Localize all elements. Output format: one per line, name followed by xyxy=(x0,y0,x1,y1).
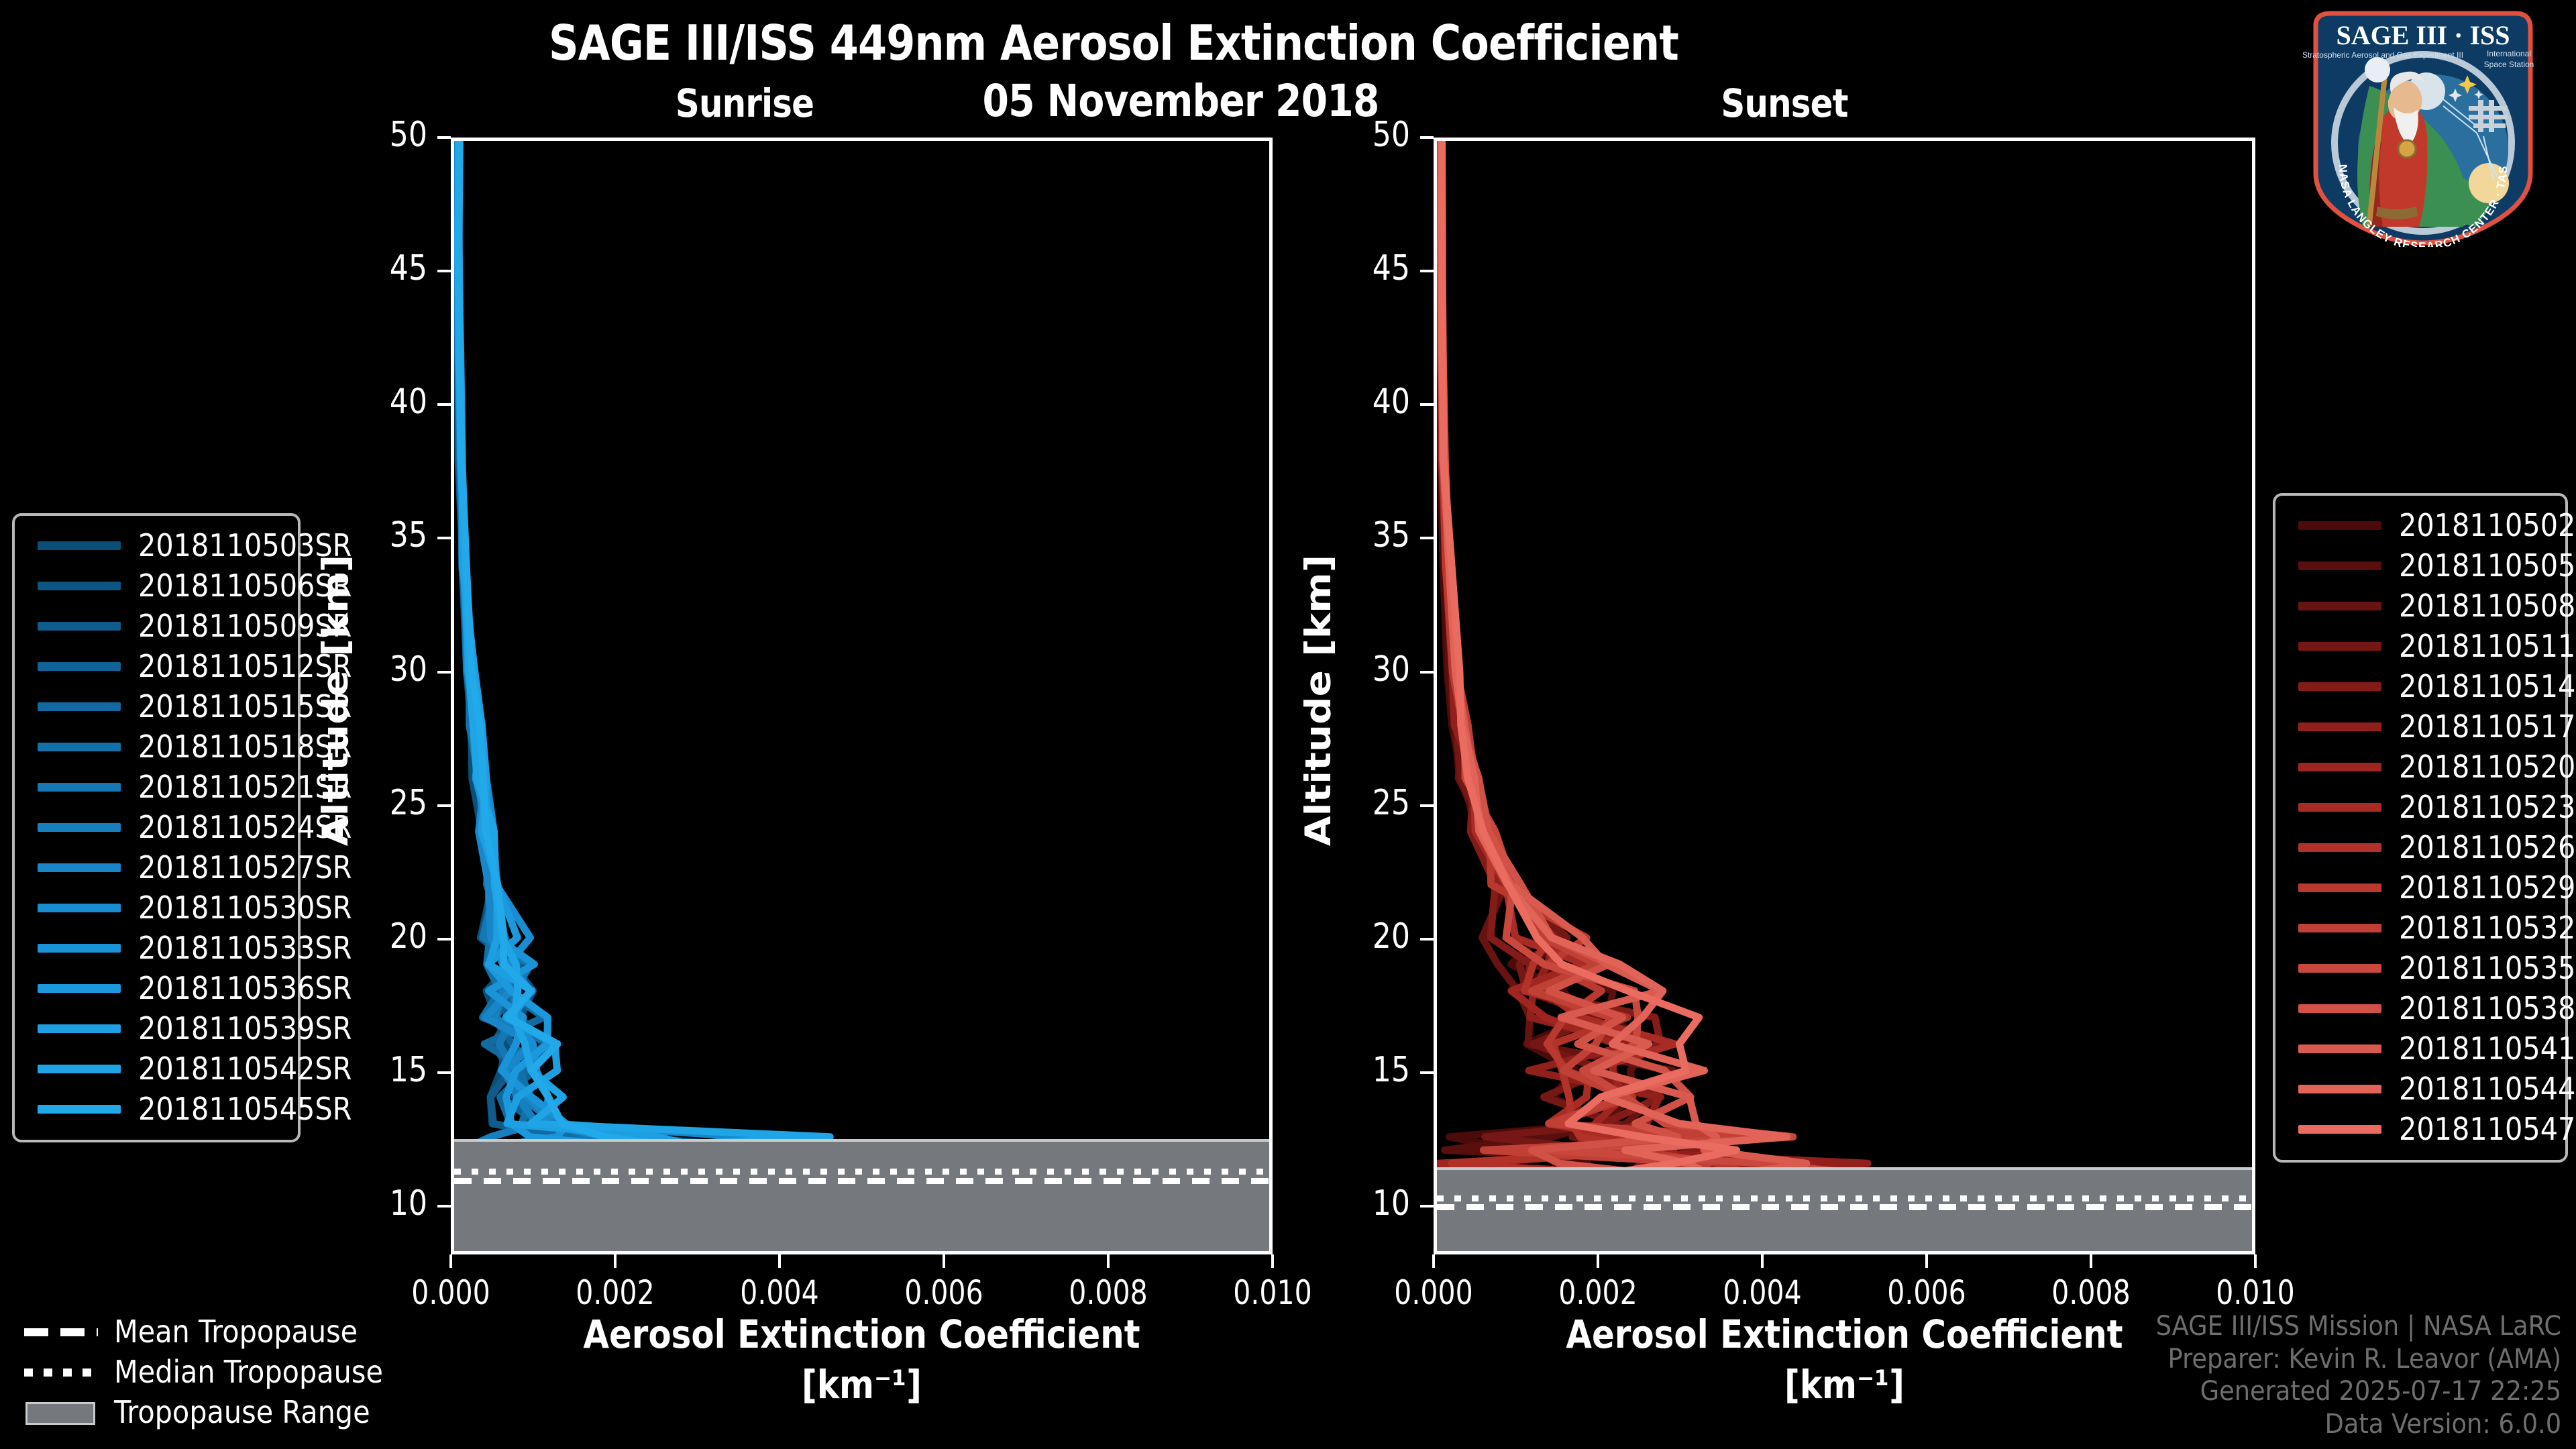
x-axis-tick-mark xyxy=(1597,1254,1599,1268)
chart-page: SAGE III/ISS 449nm Aerosol Extinction Co… xyxy=(0,0,2576,1449)
y-axis-tick-label: 35 xyxy=(1336,515,1411,555)
legend-item[interactable]: 2018110544SS xyxy=(2286,1069,2555,1109)
legend-item[interactable]: 2018110514SS xyxy=(2286,666,2555,706)
tropopause-legend-label: Mean Tropopause xyxy=(114,1313,358,1350)
legend-item[interactable]: 2018110503SR xyxy=(25,525,287,566)
sunset-y-axis-label: Altitude [km] xyxy=(1297,499,1338,902)
legend-item[interactable]: 2018110518SR xyxy=(25,727,287,767)
legend-color-swatch xyxy=(2298,561,2381,570)
legend-color-swatch xyxy=(2298,722,2381,731)
legend-color-swatch xyxy=(2298,1044,2381,1053)
tropopause-range-band-sunrise xyxy=(454,1139,1269,1254)
sunrise-plot-panel xyxy=(451,138,1273,1254)
sunset-x-axis-label: Aerosol Extinction Coefficient xyxy=(1491,1311,2198,1357)
tropopause-legend-item: Tropopause Range xyxy=(24,1392,413,1432)
y-axis-tick-mark xyxy=(437,537,451,539)
sage-iii-iss-mission-patch-logo: SAGE III · ISS Stratospheric Aerosol and… xyxy=(2275,5,2571,247)
footer-credits: SAGE III/ISS Mission | NASA LaRC Prepare… xyxy=(2121,1310,2561,1441)
y-axis-tick-mark xyxy=(437,270,451,272)
legend-color-swatch xyxy=(2298,521,2381,530)
y-axis-tick-label: 30 xyxy=(354,649,428,690)
legend-item-label: 2018110542SR xyxy=(138,1051,352,1087)
logo-subtitle-left: Stratospheric Aerosol and Gas Experiment… xyxy=(2302,50,2463,60)
y-axis-tick-mark xyxy=(437,804,451,807)
x-axis-tick-label: 0.010 xyxy=(1207,1273,1339,1312)
legend-color-swatch xyxy=(2298,1125,2381,1134)
mean-tropopause-line-sunrise xyxy=(454,1178,1269,1184)
y-axis-tick-mark xyxy=(437,136,451,139)
mean-tropopause-line-sunset xyxy=(1437,1204,2252,1210)
legend-item-label: 2018110509SR xyxy=(138,608,352,644)
legend-color-swatch xyxy=(38,743,121,751)
tropopause-legend-swatch-dashed xyxy=(24,1311,98,1352)
y-axis-tick-label: 35 xyxy=(354,515,428,555)
legend-color-swatch xyxy=(38,904,121,912)
y-axis-tick-label: 40 xyxy=(354,382,428,422)
legend-color-swatch xyxy=(2298,924,2381,932)
legend-item-label: 2018110520SS xyxy=(2399,749,2576,785)
legend-color-swatch xyxy=(38,783,121,792)
median-tropopause-line-sunset xyxy=(1437,1195,2252,1201)
legend-item[interactable]: 2018110509SR xyxy=(25,606,287,646)
legend-item[interactable]: 2018110508SS xyxy=(2286,586,2555,626)
legend-color-swatch xyxy=(2298,1085,2381,1093)
legend-color-swatch xyxy=(2298,883,2381,892)
x-axis-tick-label: 0.002 xyxy=(549,1273,682,1312)
sunrise-profiles xyxy=(454,141,1269,1251)
legend-item[interactable]: 2018110536SR xyxy=(25,968,287,1008)
y-axis-tick-mark xyxy=(437,403,451,406)
x-axis-tick-label: 0.010 xyxy=(2190,1273,2322,1312)
legend-item-label: 2018110527SR xyxy=(138,849,352,885)
legend-item[interactable]: 2018110535SS xyxy=(2286,948,2555,988)
x-axis-tick-mark xyxy=(1761,1254,1764,1268)
legend-item-label: 2018110514SS xyxy=(2399,668,2576,704)
x-axis-tick-label: 0.004 xyxy=(1697,1273,1829,1312)
legend-color-swatch xyxy=(38,541,121,550)
sunrise-x-axis-label: Aerosol Extinction Coefficient xyxy=(508,1311,1216,1357)
legend-item-label: 2018110524SR xyxy=(138,809,352,845)
legend-item[interactable]: 2018110515SR xyxy=(25,686,287,727)
profile-line xyxy=(459,141,956,1243)
legend-item-label: 2018110506SR xyxy=(138,568,352,604)
legend-item-label: 2018110502SS xyxy=(2399,507,2576,543)
tropopause-legend-swatch-band xyxy=(24,1392,98,1432)
legend-item[interactable]: 2018110517SS xyxy=(2286,706,2555,747)
tropopause-legend-item: Mean Tropopause xyxy=(24,1311,413,1352)
legend-item[interactable]: 2018110545SR xyxy=(25,1089,287,1129)
legend-color-swatch xyxy=(2298,1004,2381,1013)
legend-color-swatch xyxy=(38,1024,121,1033)
legend-item[interactable]: 2018110520SS xyxy=(2286,747,2555,787)
legend-item-label: 2018110544SS xyxy=(2399,1071,2576,1107)
y-axis-tick-label: 10 xyxy=(354,1183,428,1224)
y-axis-tick-mark xyxy=(1420,671,1434,674)
sunset-profiles xyxy=(1437,141,2252,1251)
legend-item-label: 2018110541SS xyxy=(2399,1030,2576,1067)
sunset-panel-label: Sunset xyxy=(1663,80,1905,126)
sunrise-panel-label: Sunrise xyxy=(623,80,865,126)
x-axis-tick-mark xyxy=(1432,1254,1435,1268)
legend-item-label: 2018110508SS xyxy=(2399,588,2576,624)
tropopause-legend-item: Median Tropopause xyxy=(24,1352,413,1392)
legend-color-swatch xyxy=(38,622,121,631)
legend-color-swatch xyxy=(38,823,121,832)
sunset-plot-panel xyxy=(1434,138,2255,1254)
legend-item-label: 2018110547SS xyxy=(2399,1111,2576,1147)
tropopause-range-top-edge-sunrise xyxy=(454,1139,1269,1142)
x-axis-tick-mark xyxy=(1107,1254,1110,1268)
y-axis-tick-label: 10 xyxy=(1336,1183,1411,1224)
y-axis-tick-mark xyxy=(437,671,451,674)
footer-generated: Generated 2025-07-17 22:25 xyxy=(2155,1375,2561,1408)
y-axis-tick-label: 20 xyxy=(1336,916,1411,957)
legend-color-swatch xyxy=(38,1065,121,1073)
x-axis-tick-label: 0.008 xyxy=(1042,1273,1175,1312)
legend-item[interactable]: 2018110547SS xyxy=(2286,1109,2555,1149)
y-axis-tick-mark xyxy=(1420,1071,1434,1074)
legend-item[interactable]: 2018110539SR xyxy=(25,1008,287,1049)
y-axis-tick-label: 15 xyxy=(354,1050,428,1090)
median-tropopause-line-sunrise xyxy=(454,1169,1269,1175)
legend-item[interactable]: 2018110511SS xyxy=(2286,626,2555,666)
y-axis-tick-label: 15 xyxy=(1336,1050,1411,1090)
legend-item[interactable]: 2018110542SR xyxy=(25,1049,287,1089)
legend-color-swatch xyxy=(38,863,121,872)
logo-subtitle-right-2: Space Station xyxy=(2484,60,2534,69)
x-axis-tick-mark xyxy=(614,1254,616,1268)
x-axis-tick-label: 0.002 xyxy=(1532,1273,1664,1312)
x-axis-tick-mark xyxy=(2254,1254,2257,1268)
y-axis-tick-label: 50 xyxy=(1336,115,1411,155)
y-axis-tick-label: 50 xyxy=(354,115,428,155)
footer-preparer: Preparer: Kevin R. Leavor (AMA) xyxy=(2155,1343,2561,1376)
legend-color-swatch xyxy=(38,984,121,993)
legend-item-label: 2018110529SS xyxy=(2399,869,2576,906)
profile-line xyxy=(1440,141,1807,1243)
legend-item[interactable]: 2018110527SR xyxy=(25,847,287,888)
y-axis-tick-mark xyxy=(1420,938,1434,941)
tropopause-range-top-edge-sunset xyxy=(1437,1167,2252,1170)
x-axis-tick-mark xyxy=(449,1254,452,1268)
legend-item-label: 2018110545SR xyxy=(138,1091,352,1127)
tropopause-legend: Mean TropopauseMedian TropopauseTropopau… xyxy=(24,1311,413,1432)
legend-item-label: 2018110538SS xyxy=(2399,990,2576,1026)
legend-item-label: 2018110503SR xyxy=(138,527,352,563)
tropopause-legend-label: Tropopause Range xyxy=(114,1394,370,1430)
legend-item-label: 2018110517SS xyxy=(2399,708,2576,745)
legend-item-label: 2018110526SS xyxy=(2399,829,2576,865)
legend-item-label: 2018110530SR xyxy=(138,890,352,926)
legend-item-label: 2018110518SR xyxy=(138,729,352,765)
x-axis-tick-mark xyxy=(1925,1254,1928,1268)
y-axis-tick-label: 40 xyxy=(1336,382,1411,422)
legend-item-label: 2018110521SR xyxy=(138,769,352,805)
legend-color-swatch xyxy=(2298,964,2381,973)
legend-item-label: 2018110512SR xyxy=(138,648,352,684)
tropopause-legend-swatch-dotted xyxy=(24,1352,98,1392)
legend-color-swatch xyxy=(2298,682,2381,691)
legend-item-label: 2018110515SR xyxy=(138,688,352,724)
logo-title: SAGE III · ISS xyxy=(2336,20,2510,50)
legend-item-label: 2018110535SS xyxy=(2399,950,2576,986)
legend-item-label: 2018110505SS xyxy=(2399,547,2576,584)
legend-item[interactable]: 2018110533SR xyxy=(25,928,287,968)
footer-mission: SAGE III/ISS Mission | NASA LaRC xyxy=(2155,1310,2561,1343)
y-axis-tick-label: 30 xyxy=(1336,649,1411,690)
y-axis-tick-mark xyxy=(1420,270,1434,272)
sunrise-legend[interactable]: 2018110503SR2018110506SR2018110509SR2018… xyxy=(12,513,301,1142)
footer-data-version: Data Version: 6.0.0 xyxy=(2155,1408,2561,1441)
legend-color-swatch xyxy=(2298,803,2381,812)
profile-line xyxy=(1440,141,1832,1243)
legend-item[interactable]: 2018110521SR xyxy=(25,767,287,807)
legend-item[interactable]: 2018110523SS xyxy=(2286,787,2555,827)
legend-color-swatch xyxy=(38,1105,121,1114)
legend-item[interactable]: 2018110541SS xyxy=(2286,1028,2555,1069)
legend-item[interactable]: 2018110524SR xyxy=(25,807,287,847)
x-axis-tick-mark xyxy=(778,1254,781,1268)
y-axis-tick-mark xyxy=(1420,804,1434,807)
legend-item-label: 2018110511SS xyxy=(2399,628,2576,664)
sunset-x-axis-unit: [km⁻¹] xyxy=(1491,1362,2198,1407)
y-axis-tick-mark xyxy=(1420,537,1434,539)
legend-item[interactable]: 2018110526SS xyxy=(2286,827,2555,867)
y-axis-tick-label: 25 xyxy=(1336,783,1411,823)
legend-item-label: 2018110539SR xyxy=(138,1010,352,1046)
legend-color-swatch xyxy=(2298,642,2381,651)
legend-item-label: 2018110533SR xyxy=(138,930,352,966)
y-axis-tick-mark xyxy=(437,938,451,941)
legend-item-label: 2018110536SR xyxy=(138,970,352,1006)
y-axis-tick-label: 45 xyxy=(1336,248,1411,288)
x-axis-tick-label: 0.006 xyxy=(1861,1273,1993,1312)
profile-line xyxy=(1442,141,1868,1243)
x-axis-tick-label: 0.004 xyxy=(714,1273,846,1312)
y-axis-tick-label: 20 xyxy=(354,916,428,957)
page-title: SAGE III/ISS 449nm Aerosol Extinction Co… xyxy=(156,15,2071,71)
logo-subtitle-right-1: International xyxy=(2487,49,2531,58)
tropopause-range-band-sunset xyxy=(1437,1167,2252,1254)
legend-item[interactable]: 2018110512SR xyxy=(25,646,287,686)
legend-color-swatch xyxy=(2298,763,2381,771)
y-axis-tick-label: 25 xyxy=(354,783,428,823)
y-axis-tick-mark xyxy=(1420,1205,1434,1207)
y-axis-tick-mark xyxy=(437,1205,451,1207)
y-axis-tick-mark xyxy=(1420,403,1434,406)
x-axis-tick-mark xyxy=(943,1254,945,1268)
legend-color-swatch xyxy=(2298,602,2381,610)
legend-item[interactable]: 2018110532SS xyxy=(2286,908,2555,948)
x-axis-tick-label: 0.000 xyxy=(1368,1273,1500,1312)
sunset-legend[interactable]: 2018110502SS2018110505SS2018110508SS2018… xyxy=(2273,493,2568,1163)
legend-color-swatch xyxy=(2298,843,2381,852)
legend-color-swatch xyxy=(38,702,121,711)
y-axis-tick-mark xyxy=(437,1071,451,1074)
sunrise-x-axis-unit: [km⁻¹] xyxy=(508,1362,1216,1407)
legend-color-swatch xyxy=(38,662,121,671)
legend-item-label: 2018110532SS xyxy=(2399,910,2576,946)
x-axis-tick-label: 0.000 xyxy=(385,1273,517,1312)
x-axis-tick-mark xyxy=(1271,1254,1274,1268)
legend-item-label: 2018110523SS xyxy=(2399,789,2576,825)
y-axis-tick-label: 45 xyxy=(354,248,428,288)
y-axis-tick-mark xyxy=(1420,136,1434,139)
legend-item[interactable]: 2018110530SR xyxy=(25,888,287,928)
legend-item[interactable]: 2018110506SR xyxy=(25,566,287,606)
x-axis-tick-mark xyxy=(2090,1254,2092,1268)
legend-item[interactable]: 2018110529SS xyxy=(2286,867,2555,908)
x-axis-tick-label: 0.006 xyxy=(878,1273,1010,1312)
legend-color-swatch xyxy=(38,944,121,953)
tropopause-legend-label: Median Tropopause xyxy=(114,1354,383,1390)
legend-item[interactable]: 2018110505SS xyxy=(2286,545,2555,586)
legend-color-swatch xyxy=(38,582,121,590)
x-axis-tick-label: 0.008 xyxy=(2025,1273,2157,1312)
legend-item[interactable]: 2018110502SS xyxy=(2286,505,2555,545)
legend-item[interactable]: 2018110538SS xyxy=(2286,988,2555,1028)
